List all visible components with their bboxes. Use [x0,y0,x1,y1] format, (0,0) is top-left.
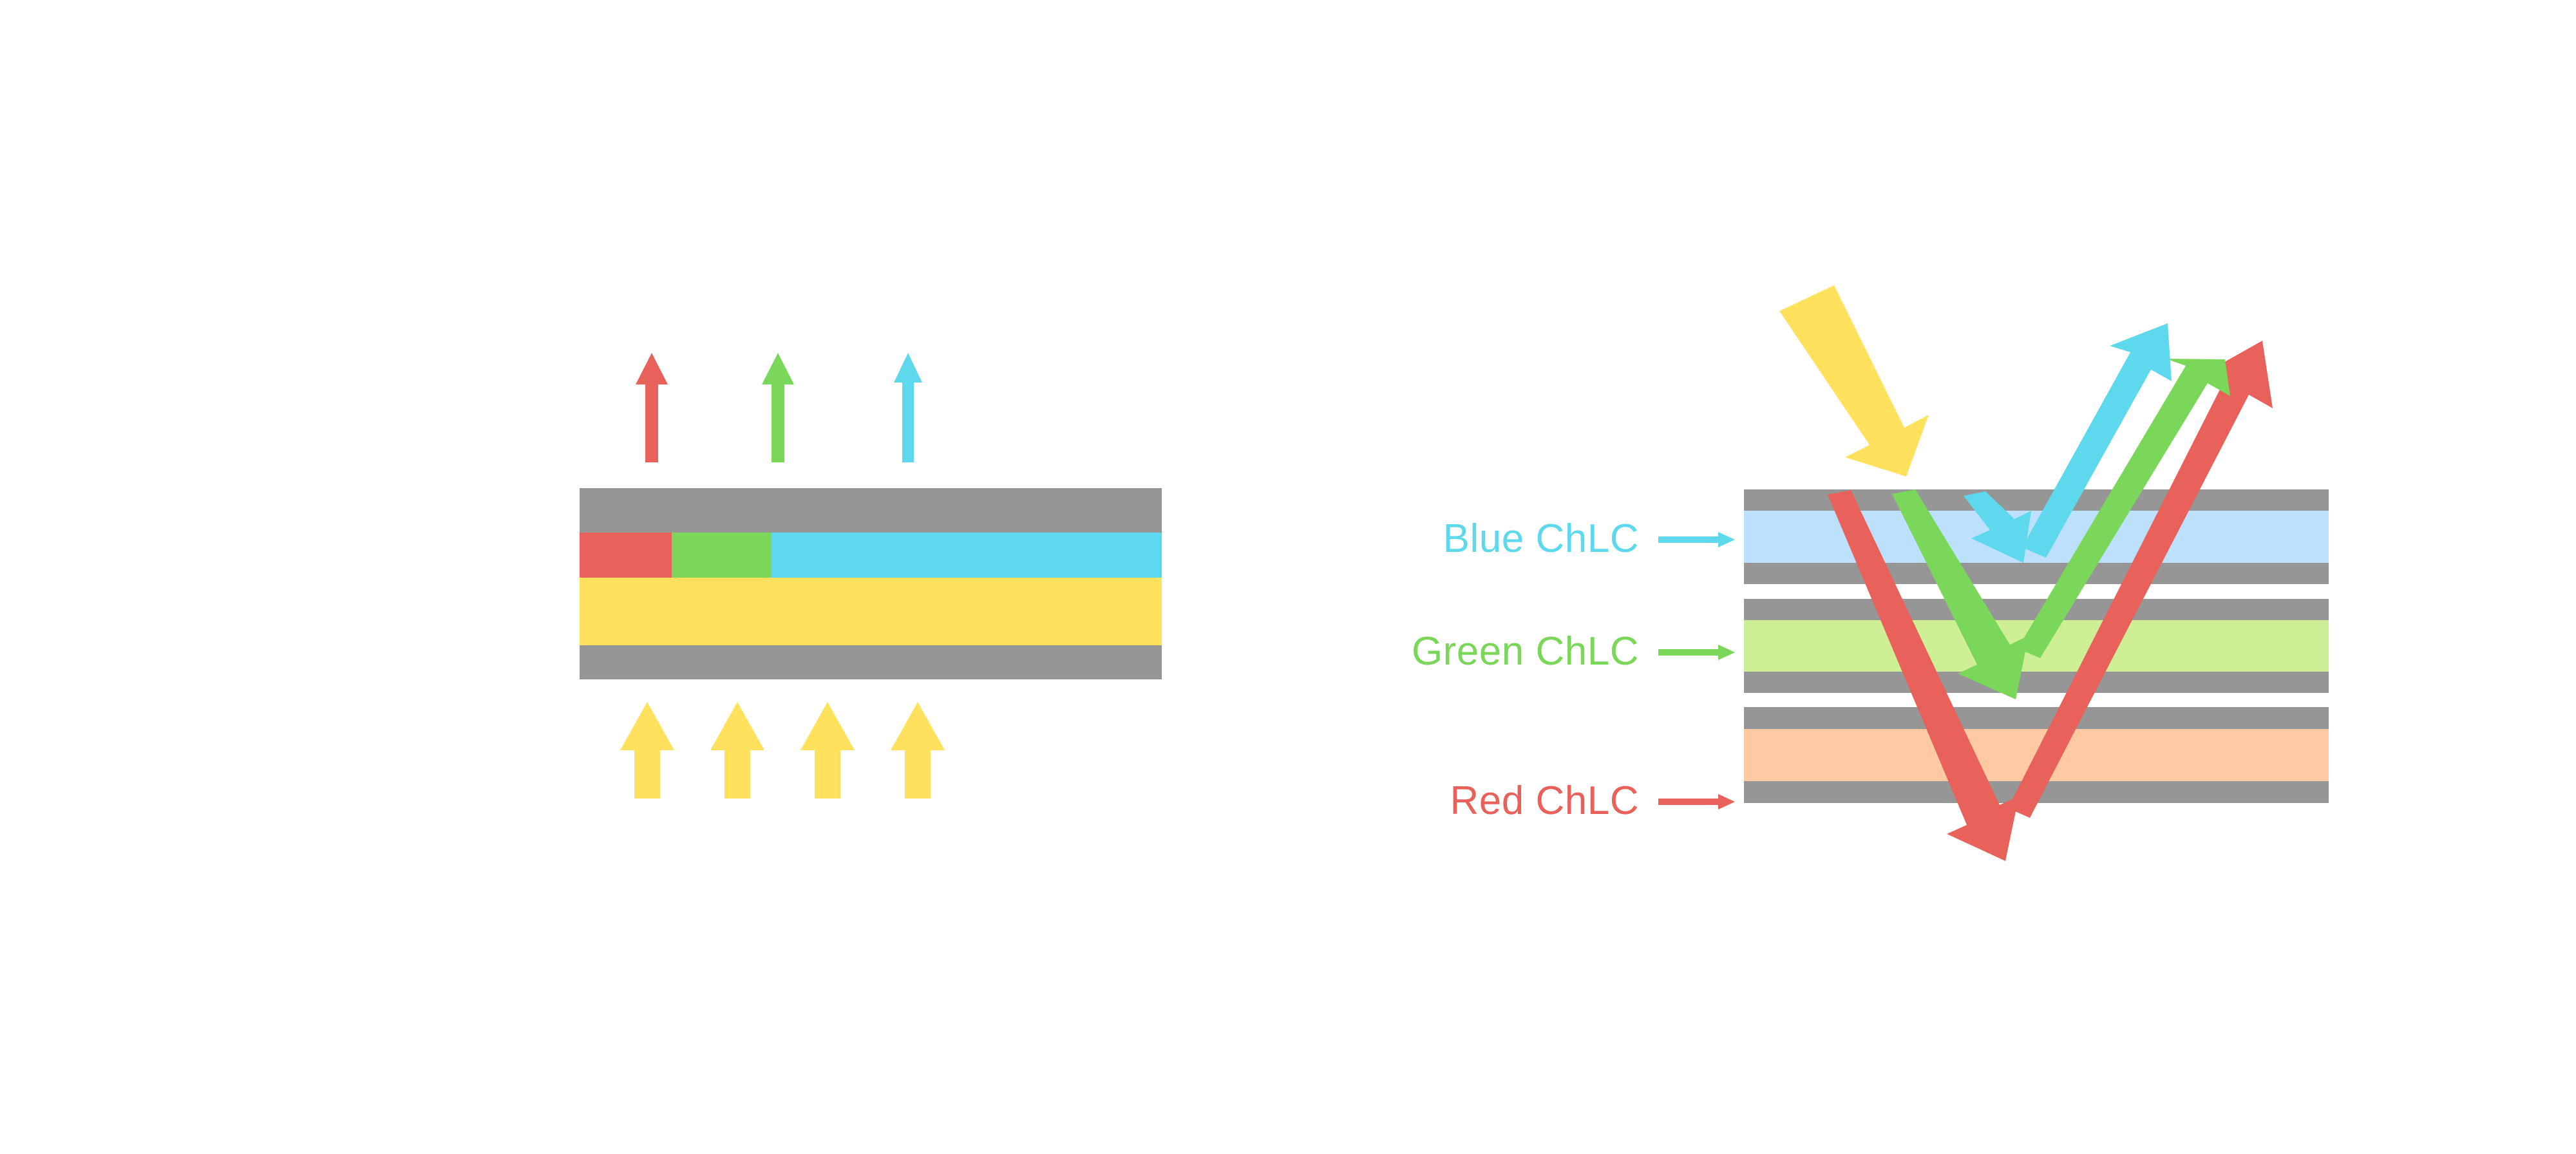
blue-chlc-label: Blue ChLC [1443,516,1639,561]
backlight-arrow [710,702,764,799]
left-top-electrode [580,488,1162,533]
diagram-canvas: Blue ChLC Green ChLC Red ChLC [0,0,2576,1154]
left-panel [580,353,1162,799]
green-bottom-electrode [1744,672,2329,693]
left-bottom-electrode [580,645,1162,679]
red-emission-arrow [636,353,668,462]
blue-subpixel [771,533,1162,578]
right-panel: Blue ChLC Green ChLC Red ChLC [1412,285,2329,861]
green-label-pointer [1658,645,1735,660]
label-pointer-lines [1658,532,1735,809]
red-label-pointer [1658,794,1735,809]
green-subpixel [672,533,771,578]
blue-bottom-electrode [1744,563,2329,584]
blue-label-pointer [1658,532,1735,547]
red-top-electrode [1744,707,2329,729]
green-emission-arrow [762,353,794,462]
green-chlc-label: Green ChLC [1412,629,1639,674]
backlight-arrow [891,702,945,799]
backlight-arrow [620,702,674,799]
green-top-electrode [1744,599,2329,620]
backlight-arrow [800,702,855,799]
white-light-incident-arrow [1779,285,1929,477]
left-stack [580,488,1162,679]
red-subpixel [580,533,672,578]
backlight-layer [580,578,1162,645]
diagram-svg: Blue ChLC Green ChLC Red ChLC [0,0,2576,1154]
blue-emission-arrow [894,353,922,462]
backlight-arrows [620,702,945,799]
emitted-light-arrows [636,353,922,462]
red-chlc-label: Red ChLC [1450,779,1639,823]
